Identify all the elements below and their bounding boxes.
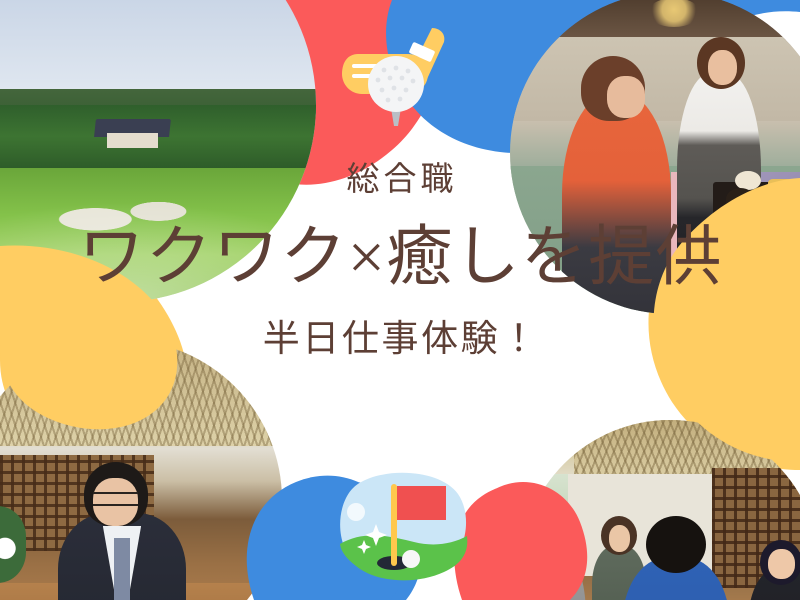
golf-green-flag-icon — [336, 466, 472, 586]
icon-red-flag — [397, 486, 446, 520]
red-blob-bottom-overlay — [459, 482, 587, 600]
golf-club-and-ball-icon — [336, 14, 464, 134]
golf-ball — [368, 56, 424, 112]
banner-root: 総合職 ワクワク×癒しを提供 半日仕事体験！ — [0, 0, 800, 600]
icon-flag-pole — [391, 484, 397, 566]
yellow-blob-right-overlay — [654, 178, 800, 462]
icon-bubble — [347, 503, 365, 521]
yellow-crescent-left — [0, 245, 177, 429]
icon-golf-ball — [402, 550, 420, 568]
